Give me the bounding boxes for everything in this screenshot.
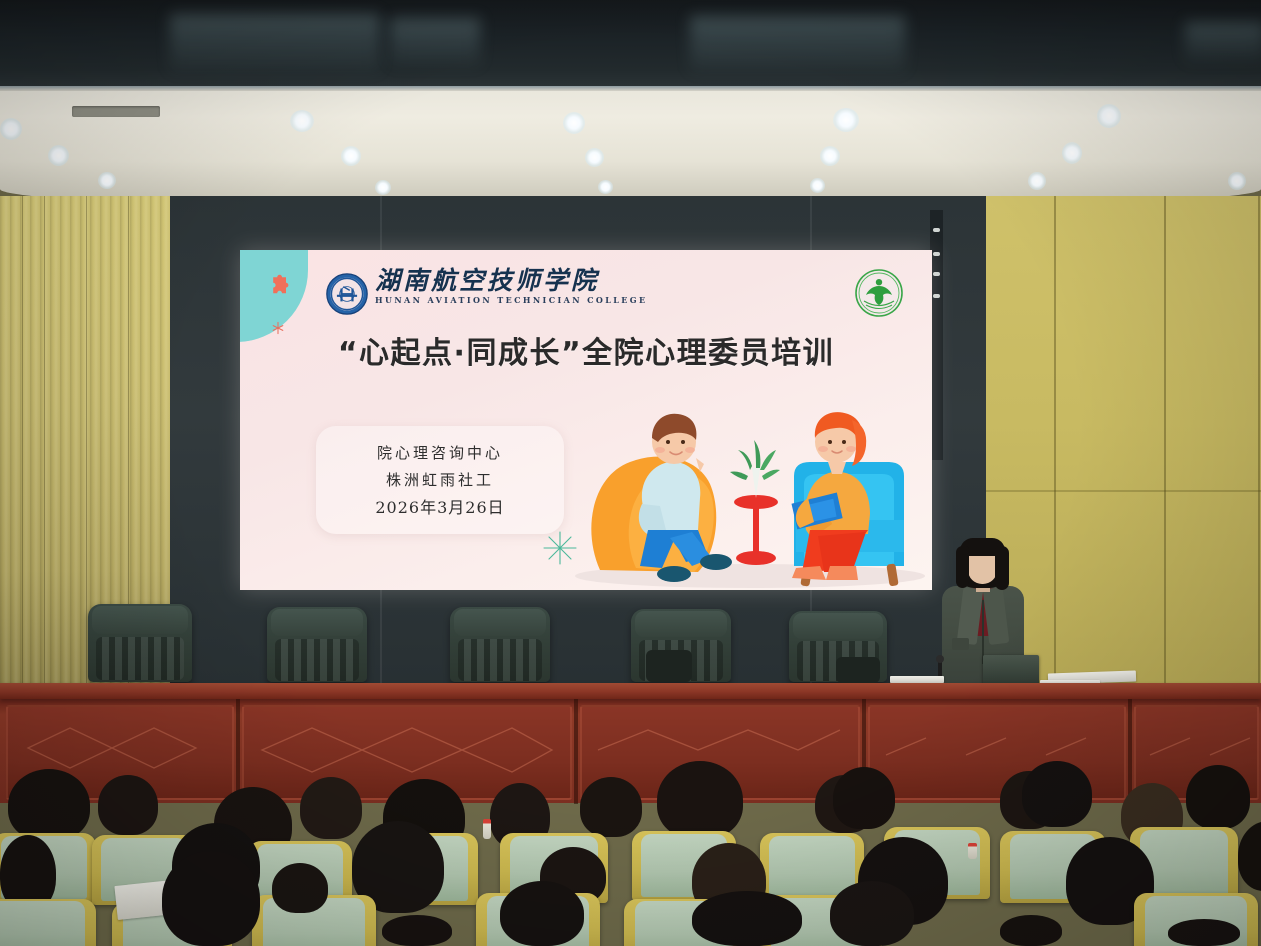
audience-head bbox=[833, 767, 895, 829]
audience-area bbox=[0, 755, 1261, 946]
audience-head bbox=[1168, 919, 1240, 946]
ceiling-downlight bbox=[1097, 104, 1121, 128]
audience-seat bbox=[0, 899, 96, 946]
ceiling-downlight bbox=[98, 172, 116, 189]
speaker-grille-dot bbox=[933, 252, 940, 256]
audience-head bbox=[272, 863, 328, 913]
counseling-session-illustration bbox=[570, 380, 930, 590]
audience-head bbox=[830, 881, 914, 946]
ceiling-downlight bbox=[585, 148, 604, 167]
speaker-grille-dot bbox=[933, 294, 940, 298]
audience-head bbox=[300, 777, 362, 839]
audience-head bbox=[692, 891, 802, 946]
college-name-block: 湖南航空技师学院 HUNAN AVIATION TECHNICIAN COLLE… bbox=[375, 268, 695, 320]
info-box-lines: 院心理咨询中心 株洲虹雨社工 2026年3月26日 bbox=[316, 426, 564, 521]
ceiling-downlight bbox=[563, 112, 585, 134]
college-name-cn: 湖南航空技师学院 bbox=[375, 268, 695, 293]
auditorium-photo: 湖南航空技师学院 HUNAN AVIATION TECHNICIAN COLLE… bbox=[0, 0, 1261, 946]
ceiling-downlight bbox=[833, 108, 859, 132]
projection-screen: 湖南航空技师学院 HUNAN AVIATION TECHNICIAN COLLE… bbox=[240, 250, 932, 590]
college-name-en: HUNAN AVIATION TECHNICIAN COLLEGE bbox=[375, 295, 695, 305]
ceiling-downlight bbox=[290, 110, 314, 132]
presenter-hair-left bbox=[956, 546, 969, 588]
audience-head bbox=[1022, 761, 1092, 827]
water-bottle bbox=[483, 819, 491, 839]
audience-head bbox=[162, 851, 260, 946]
slide-title: “心起点·同成长”全院心理委员培训 bbox=[240, 328, 932, 372]
presenter-hair-right bbox=[995, 546, 1009, 590]
ceiling-downlight bbox=[375, 180, 391, 195]
presenter-pocket bbox=[952, 638, 969, 650]
ceiling-glass-reflection bbox=[170, 14, 380, 72]
info-line-org: 株洲虹雨社工 bbox=[316, 467, 564, 494]
ceiling-downlight bbox=[1028, 172, 1046, 190]
backpack-on-chair bbox=[646, 650, 692, 682]
audience-head bbox=[98, 775, 158, 835]
audience-head bbox=[382, 915, 452, 946]
papers-on-desk bbox=[890, 676, 944, 683]
slide-logo-row: 湖南航空技师学院 HUNAN AVIATION TECHNICIAN COLLE… bbox=[240, 264, 932, 322]
water-bottle bbox=[968, 843, 977, 859]
ceiling-downlight bbox=[820, 146, 840, 166]
stage-chair bbox=[450, 607, 550, 682]
stage-chair bbox=[267, 607, 367, 682]
ceiling-downlight bbox=[48, 145, 69, 166]
ceiling-glass-reflection bbox=[390, 18, 480, 66]
stage-chair bbox=[88, 604, 192, 682]
speaker-grille-dot bbox=[933, 272, 940, 276]
audience-head bbox=[1000, 915, 1062, 946]
green-health-circle-icon bbox=[854, 268, 904, 318]
audience-head bbox=[1186, 765, 1250, 829]
stage-desk-top bbox=[0, 683, 1261, 699]
ceiling-downlight bbox=[810, 178, 825, 193]
ceiling-downlight bbox=[1062, 142, 1082, 164]
handbag-on-chair bbox=[836, 657, 880, 683]
info-line-date: 2026年3月26日 bbox=[316, 494, 564, 521]
ceiling-downlight bbox=[1228, 172, 1246, 190]
ceiling-downlight bbox=[598, 180, 613, 194]
audience-head bbox=[580, 777, 642, 837]
audience-head bbox=[657, 761, 743, 839]
audience-head bbox=[1238, 821, 1261, 891]
ceiling-downlight bbox=[0, 118, 22, 140]
ceiling-downlight bbox=[341, 146, 361, 166]
audience-head bbox=[500, 881, 584, 946]
ceiling-glass-reflection bbox=[690, 16, 905, 72]
college-crest-icon bbox=[325, 272, 369, 316]
ceiling-glass-reflection bbox=[1185, 22, 1261, 62]
speaker-grille-dot bbox=[933, 228, 940, 232]
info-line-center: 院心理咨询中心 bbox=[316, 440, 564, 467]
ceiling-vent bbox=[72, 106, 160, 117]
audience-head bbox=[8, 769, 90, 841]
slide-info-box: 院心理咨询中心 株洲虹雨社工 2026年3月26日 bbox=[316, 426, 564, 534]
